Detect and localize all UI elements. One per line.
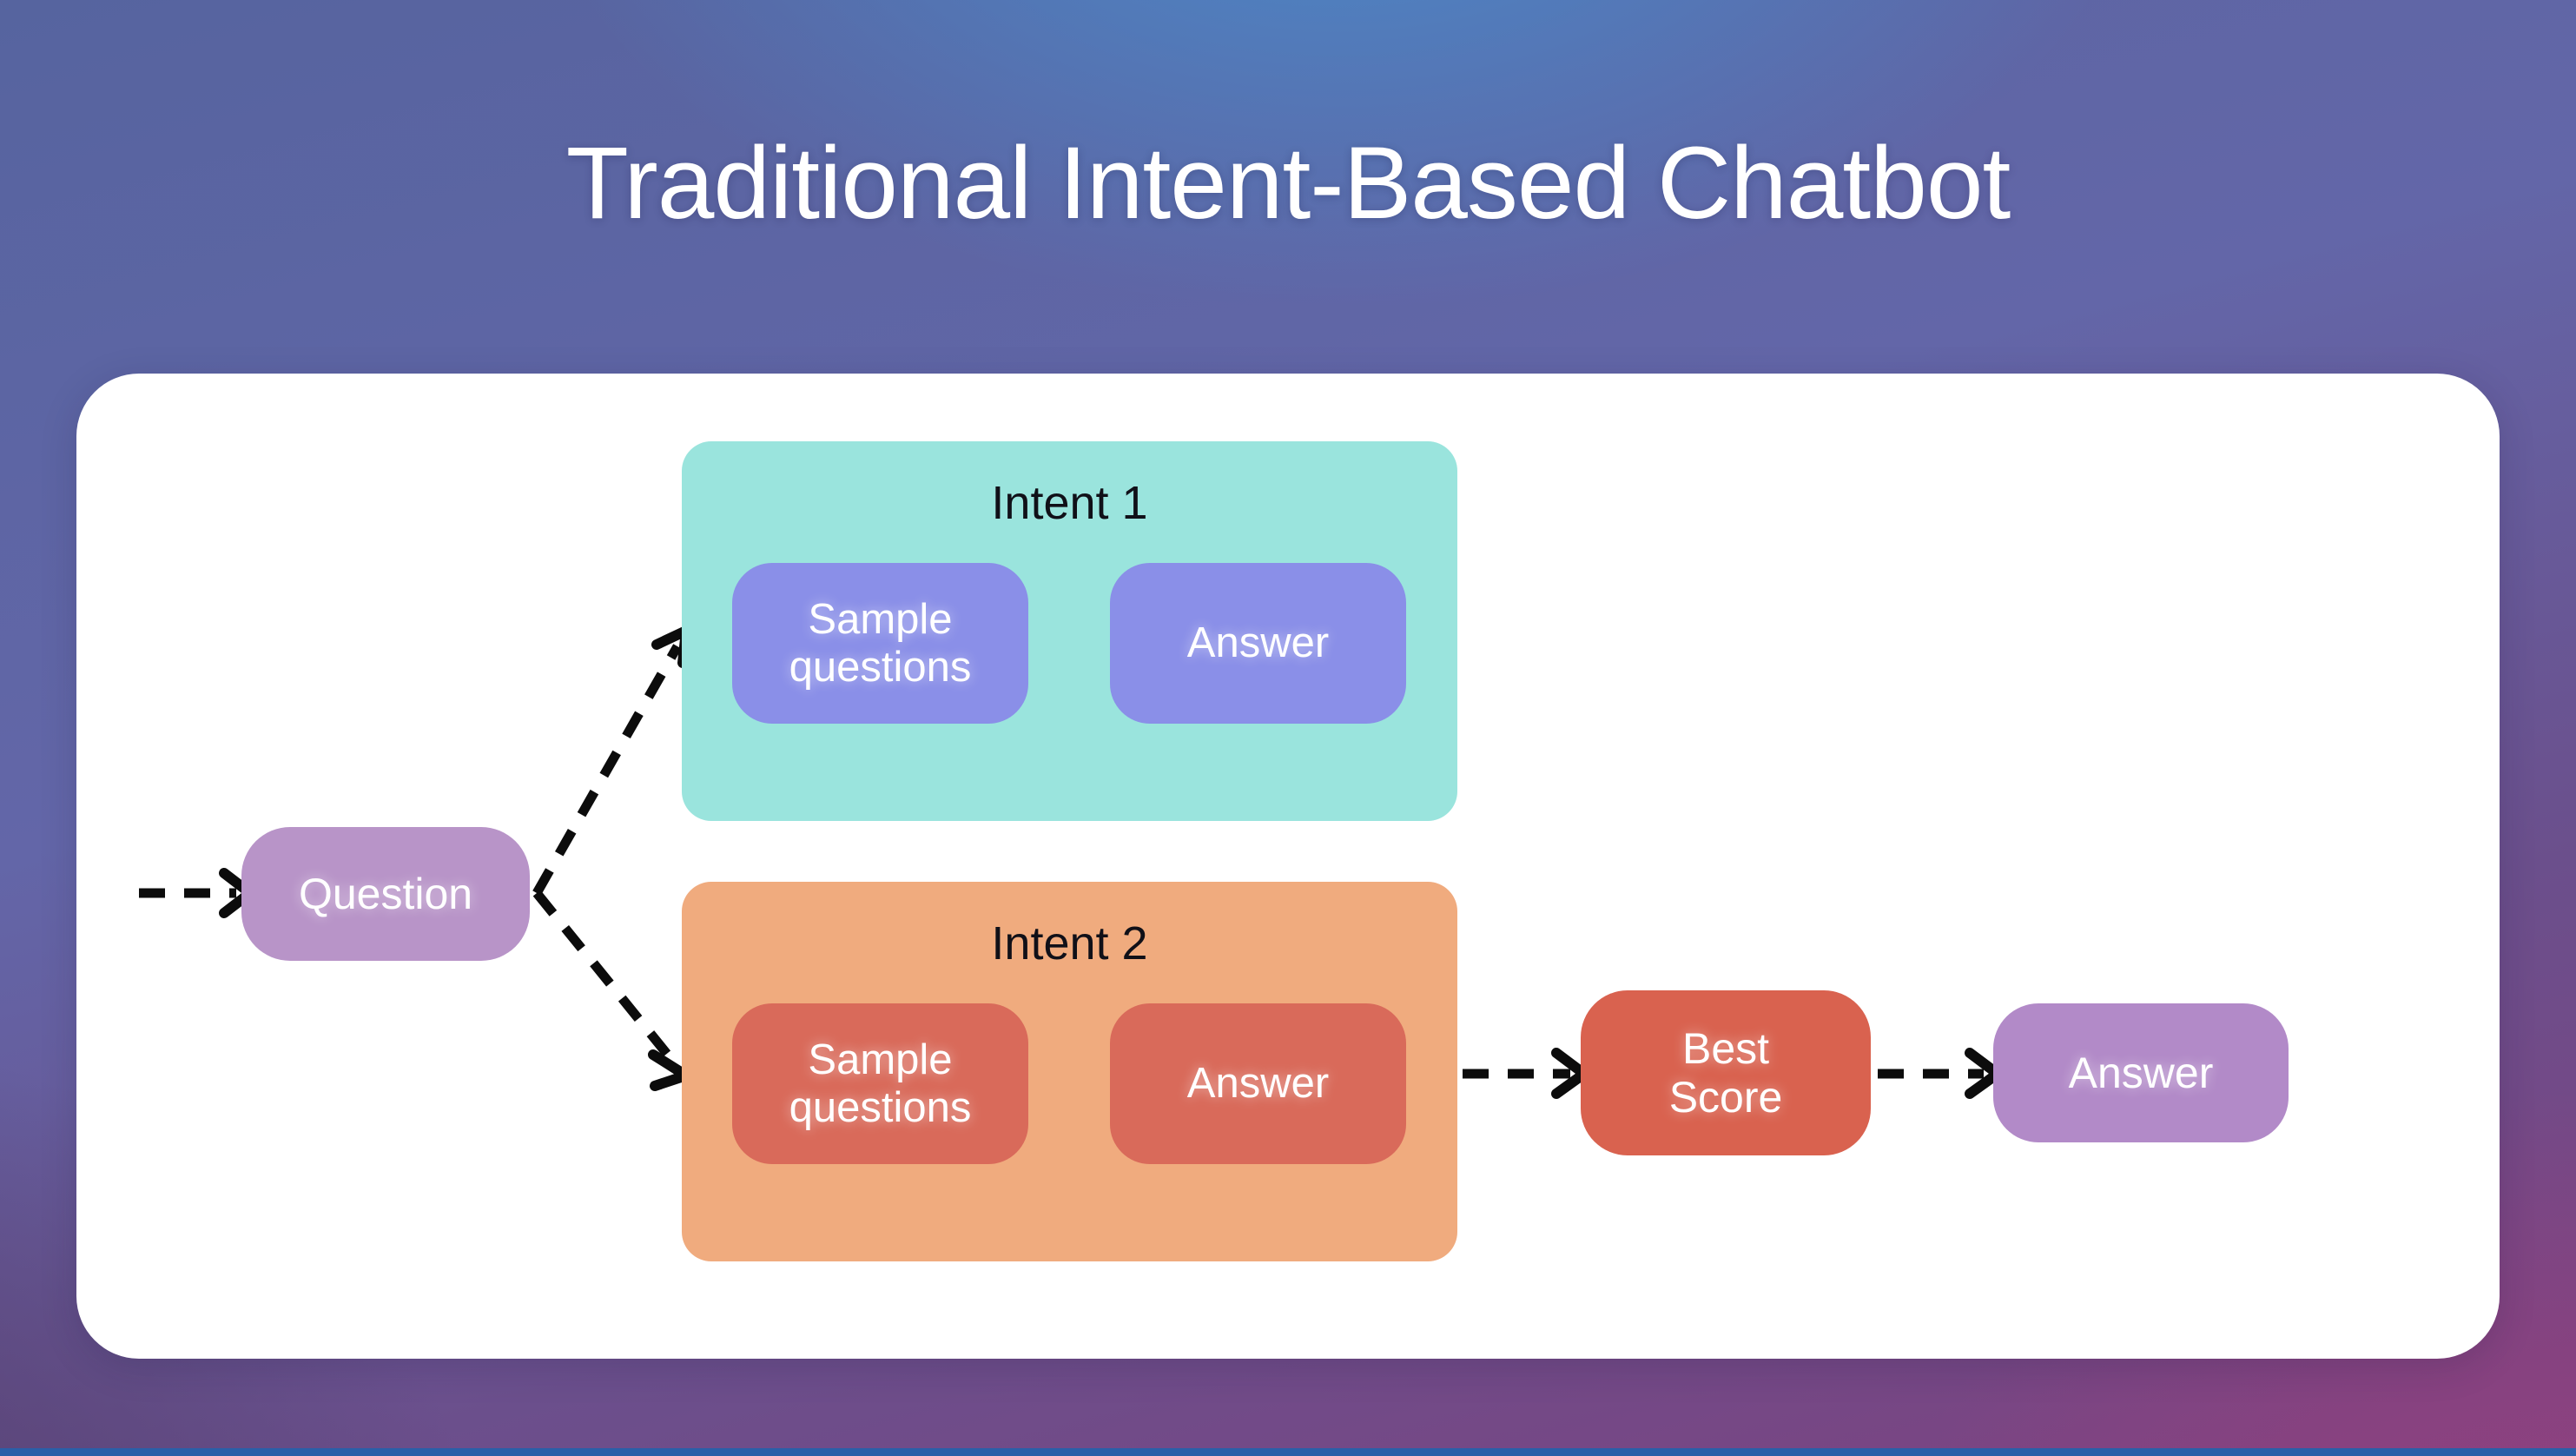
- final-answer-node[interactable]: Answer: [1993, 1003, 2289, 1142]
- intent-1-answer[interactable]: Answer: [1110, 563, 1406, 724]
- intent-2-answer[interactable]: Answer: [1110, 1003, 1406, 1164]
- connector-input-to-question: [139, 873, 250, 913]
- diagram-card: Intent 1 Sample questions Answer Intent …: [76, 374, 2500, 1359]
- intent-2-sample-questions[interactable]: Sample questions: [732, 1003, 1028, 1164]
- best-score-node[interactable]: Best Score: [1581, 990, 1871, 1155]
- intent-1-sample-questions[interactable]: Sample questions: [732, 563, 1028, 724]
- bottom-accent-strip: [0, 1448, 2576, 1456]
- connector-best-score-to-answer: [1878, 1053, 1998, 1094]
- connector-intent2-to-best-score: [1463, 1053, 1584, 1094]
- slide-canvas: Traditional Intent-Based Chatbot: [0, 0, 2576, 1456]
- question-node[interactable]: Question: [241, 827, 530, 961]
- intent-2-title: Intent 2: [682, 917, 1457, 970]
- connector-question-to-intent1: [537, 631, 686, 893]
- page-title: Traditional Intent-Based Chatbot: [0, 130, 2576, 238]
- connector-question-to-intent2: [537, 893, 686, 1086]
- intent-1-title: Intent 1: [682, 476, 1457, 530]
